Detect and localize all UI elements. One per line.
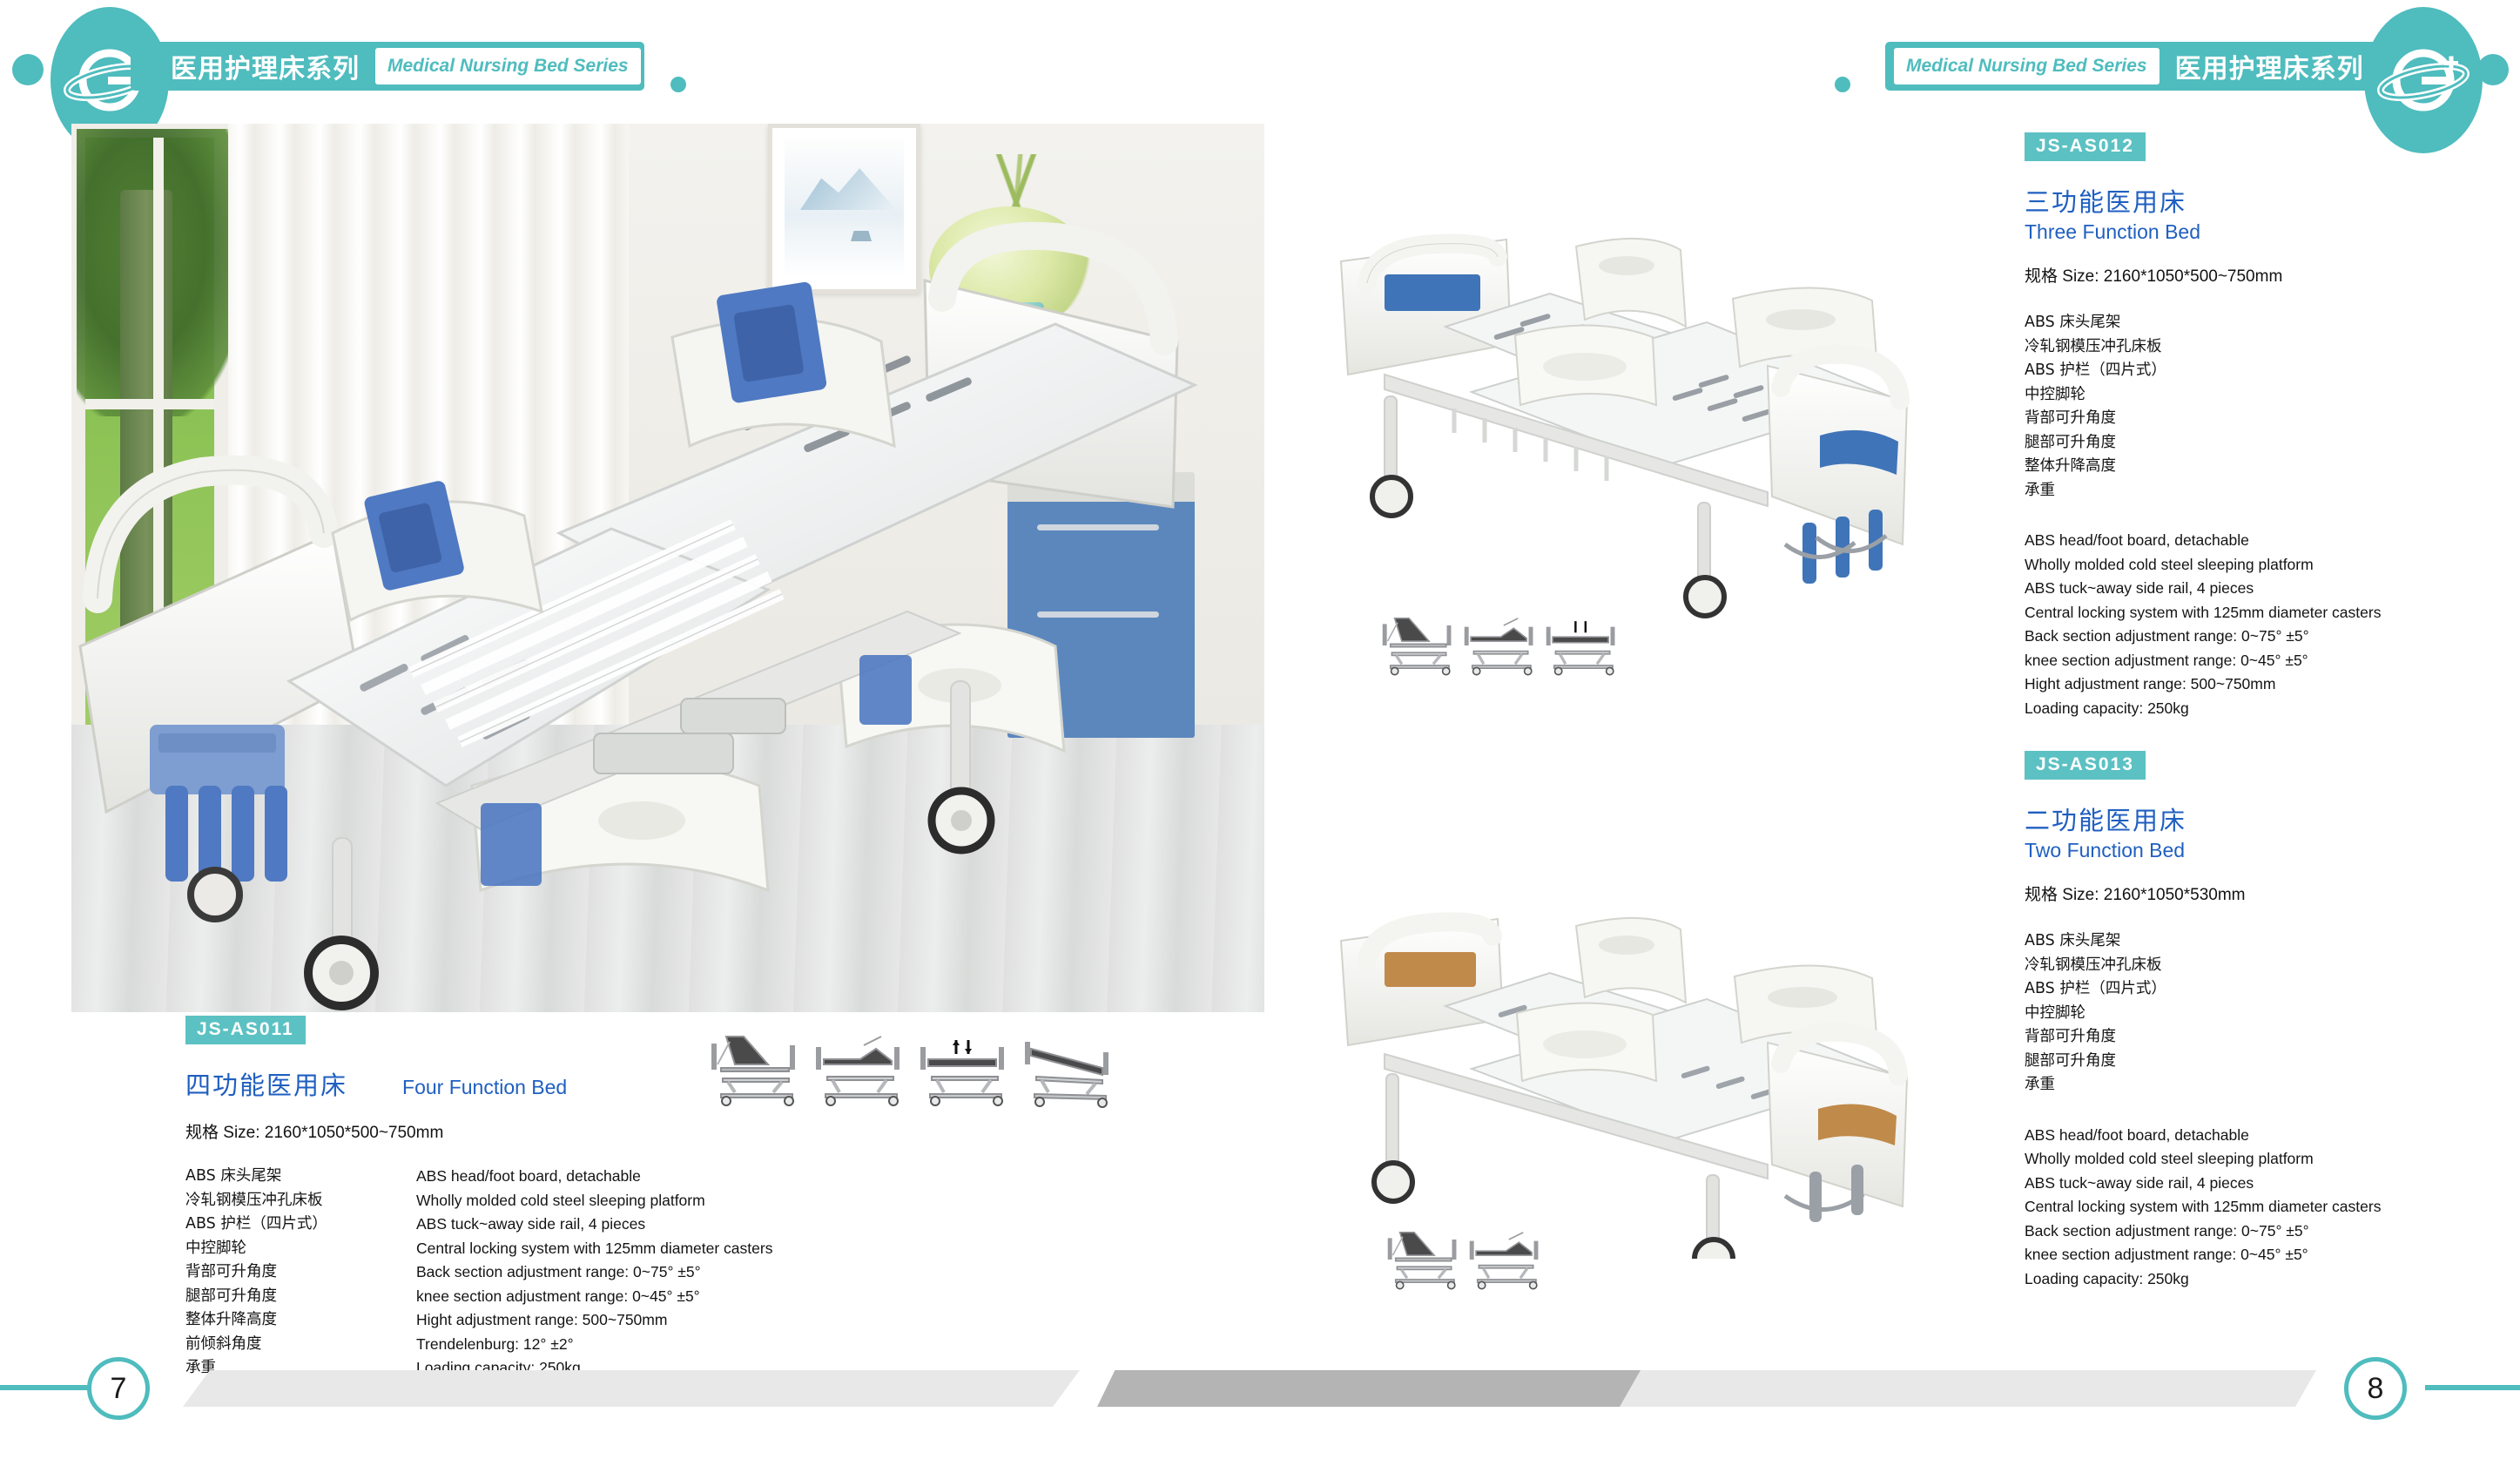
header-dot-right-inner: [1835, 77, 1850, 92]
series-title-cn-right: 医用护理床系列: [2175, 47, 2364, 85]
product-title-cn: 四功能医用床: [185, 1065, 347, 1102]
spec-cn-item: 中控脚轮: [185, 1237, 416, 1261]
spec-en-item: knee section adjustment range: 0~45° ±5°: [2025, 1243, 2512, 1267]
product-code-badge: JS-AS013: [2025, 751, 2146, 780]
as013-function-thumbnails: [1381, 1224, 1555, 1294]
product-size-line: 规格 Size: 2160*1050*500~750mm: [185, 1124, 443, 1142]
spec-en-item: knee section adjustment range: 0~45° ±5°: [416, 1285, 772, 1309]
three-function-bed-image: [1332, 196, 1959, 632]
product-specs-en-list: ABS head/foot board, detachable Wholly m…: [2025, 529, 2512, 720]
spec-en-item: Central locking system with 125mm diamet…: [416, 1237, 772, 1261]
thumb-knee-raised: [1466, 618, 1532, 675]
spec-en-item: Central locking system with 125mm diamet…: [2025, 1195, 2512, 1219]
company-globe-cross-logo-icon-right: [2364, 7, 2483, 153]
product-specs-en-list: ABS head/foot board, detachable Wholly m…: [416, 1165, 772, 1381]
spec-en-item: Central locking system with 125mm diamet…: [2025, 601, 2512, 625]
product-title-en: Three Function Bed: [2025, 220, 2512, 244]
product-size-line: 规格 Size: 2160*1050*500~750mm: [2025, 263, 2512, 287]
hero-room-photo: [71, 124, 1264, 1012]
spec-cn-item: 腿部可升角度: [2025, 431, 2512, 456]
catalog-spread: 医用护理床系列 Medical Nursing Bed Series Medic…: [0, 0, 2520, 1466]
thumb-height-adjust: [1548, 621, 1614, 675]
as012-product-block: JS-AS012 三功能医用床 Three Function Bed 规格 Si…: [2025, 132, 2512, 720]
as012-function-thumbnails: [1376, 610, 1620, 679]
spec-en-item: Wholly molded cold steel sleeping platfo…: [416, 1189, 772, 1213]
four-function-bed-illustration: [71, 124, 1264, 1012]
header-right: Medical Nursing Bed Series 医用护理床系列: [1260, 0, 2520, 131]
page-number-left: 7: [87, 1357, 150, 1420]
spec-cn-item: 中控脚轮: [2025, 383, 2512, 408]
spec-cn-item: 背部可升角度: [2025, 407, 2512, 431]
spec-en-item: Back section adjustment range: 0~75° ±5°: [2025, 625, 2512, 649]
spec-en-item: Back section adjustment range: 0~75° ±5°: [416, 1260, 772, 1285]
product-title-en: Two Function Bed: [2025, 839, 2512, 862]
product-specs-cn-list: ABS 床头尾架 冷轧钢模压冲孔床板 ABS 护栏（四片式） 中控脚轮 背部可升…: [2025, 929, 2512, 1098]
spec-en-item: ABS tuck~away side rail, 4 pieces: [416, 1213, 772, 1237]
spec-en-item: Hight adjustment range: 500~750mm: [416, 1308, 772, 1333]
spec-cn-item: 冷轧钢模压冲孔床板: [2025, 954, 2512, 978]
product-title-en: Four Function Bed: [402, 1076, 567, 1099]
spec-cn-item: ABS 床头尾架: [2025, 929, 2512, 954]
product-code-badge: JS-AS011: [185, 1016, 306, 1044]
spec-cn-item: 整体升降高度: [2025, 455, 2512, 479]
spec-cn-item: 腿部可升角度: [2025, 1050, 2512, 1074]
product-title-cn: 三功能医用床: [2025, 182, 2512, 219]
spec-cn-item: 冷轧钢模压冲孔床板: [2025, 335, 2512, 360]
spec-en-item: Loading capacity: 250kg: [2025, 1267, 2512, 1292]
spec-en-item: Trendelenburg: 12° ±2°: [416, 1333, 772, 1357]
spec-en-item: Hight adjustment range: 500~750mm: [2025, 672, 2512, 697]
header-left: 医用护理床系列 Medical Nursing Bed Series: [0, 0, 1260, 131]
spec-cn-item: 冷轧钢模压冲孔床板: [185, 1189, 416, 1213]
spec-cn-item: 整体升降高度: [185, 1308, 416, 1333]
spec-cn-item: 承重: [2025, 479, 2512, 503]
spec-en-item: Wholly molded cold steel sleeping platfo…: [2025, 553, 2512, 578]
product-specs-cn-list: ABS 床头尾架 冷轧钢模压冲孔床板 ABS 护栏（四片式） 中控脚轮 背部可升…: [185, 1165, 416, 1381]
as013-product-block: JS-AS013 二功能医用床 Two Function Bed 规格 Size…: [2025, 751, 2512, 1291]
spec-cn-item: 承重: [2025, 1073, 2512, 1098]
spec-en-item: ABS head/foot board, detachable: [2025, 529, 2512, 553]
series-title-en: Medical Nursing Bed Series: [387, 56, 629, 77]
two-function-bed-image: [1332, 858, 1959, 1259]
footer-line-right: [2425, 1385, 2520, 1390]
spec-en-item: ABS tuck~away side rail, 4 pieces: [2025, 1172, 2512, 1196]
footer-band-dark-center: [1097, 1370, 1689, 1407]
spec-en-item: knee section adjustment range: 0~45° ±5°: [2025, 649, 2512, 673]
spec-cn-item: ABS 床头尾架: [2025, 311, 2512, 335]
spec-cn-item: 腿部可升角度: [185, 1285, 416, 1309]
footer-line-left: [0, 1385, 96, 1390]
header-dot-left-outer: [12, 54, 44, 85]
page-number-left-text: 7: [111, 1372, 127, 1406]
series-title-en-right: Medical Nursing Bed Series: [1906, 56, 2147, 77]
spec-cn-item: 中控脚轮: [2025, 1002, 2512, 1026]
product-size-line: 规格 Size: 2160*1050*530mm: [2025, 882, 2512, 905]
thumb-back-raised: [1390, 1233, 1455, 1289]
spec-en-item: ABS head/foot board, detachable: [416, 1165, 772, 1189]
page-number-right: 8: [2344, 1357, 2407, 1420]
product-code-badge: JS-AS012: [2025, 132, 2146, 161]
spec-en-item: Wholly molded cold steel sleeping platfo…: [2025, 1147, 2512, 1172]
product-title-cn: 二功能医用床: [2025, 801, 2512, 837]
left-product-block: JS-AS011 四功能医用床 Four Function Bed 规格 Siz…: [185, 1016, 1056, 1381]
spec-en-item: Loading capacity: 250kg: [2025, 697, 2512, 721]
series-title-cn: 医用护理床系列: [171, 47, 360, 85]
series-banner-right: Medical Nursing Bed Series 医用护理床系列: [1885, 42, 2425, 91]
series-title-en-box: Medical Nursing Bed Series: [375, 48, 641, 84]
series-title-en-box-right: Medical Nursing Bed Series: [1894, 48, 2160, 84]
header-dot-right-outer: [2477, 54, 2509, 85]
thumb-back-raised: [1385, 618, 1450, 675]
spec-cn-item: ABS 护栏（四片式）: [2025, 359, 2512, 383]
spec-en-item: ABS head/foot board, detachable: [2025, 1124, 2512, 1148]
footer-band-light-left: [183, 1370, 1080, 1407]
spec-cn-item: ABS 护栏（四片式）: [2025, 977, 2512, 1002]
footer-band-light-right: [1620, 1370, 2316, 1407]
product-specs-en-list: ABS head/foot board, detachable Wholly m…: [2025, 1124, 2512, 1292]
spec-cn-item: 背部可升角度: [2025, 1025, 2512, 1050]
spec-en-item: ABS tuck~away side rail, 4 pieces: [2025, 577, 2512, 601]
thumb-knee-raised: [1472, 1233, 1537, 1289]
header-dot-left-inner: [670, 77, 686, 92]
spec-cn-item: ABS 床头尾架: [185, 1165, 416, 1189]
spec-en-item: Back section adjustment range: 0~75° ±5°: [2025, 1219, 2512, 1244]
page-number-right-text: 8: [2368, 1372, 2384, 1406]
product-specs-cn-list: ABS 床头尾架 冷轧钢模压冲孔床板 ABS 护栏（四片式） 中控脚轮 背部可升…: [2025, 311, 2512, 503]
spec-cn-item: ABS 护栏（四片式）: [185, 1213, 416, 1237]
spec-cn-item: 前倾斜角度: [185, 1333, 416, 1357]
spec-cn-item: 背部可升角度: [185, 1260, 416, 1285]
series-banner-left: 医用护理床系列 Medical Nursing Bed Series: [131, 42, 644, 91]
